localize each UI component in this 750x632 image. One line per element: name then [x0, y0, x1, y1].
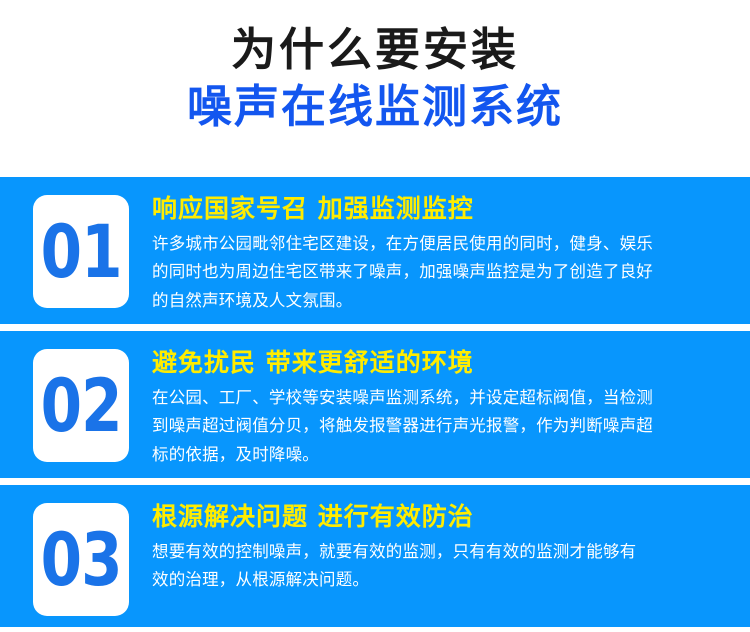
section-text-line: 许多城市公园毗邻住宅区建设，在方便居民使用的同时，健身、娱乐 [152, 230, 724, 258]
section-heading-01: 响应国家号召 加强监测监控 [152, 194, 724, 224]
section-row-02: 02 避免扰民 带来更舒适的环境 在公园、工厂、学校等安装噪声监测系统，并设定超… [0, 331, 750, 478]
section-number-01: 01 [41, 215, 122, 288]
section-text-03: 想要有效的控制噪声，就要有效的监测，只有有效的监测才能够有 效的治理，从根源解决… [152, 538, 724, 595]
section-text-line: 的自然声环境及人文氛围。 [152, 287, 724, 315]
section-number-badge-03: 03 [33, 503, 129, 616]
infographic-poster: 为什么要安装 噪声在线监测系统 01 响应国家号召 加强监测监控 许多城市公园毗… [0, 0, 750, 632]
section-text-line: 的同时也为周边住宅区带来了噪声，加强噪声监控是为了创造了良好 [152, 258, 724, 286]
section-number-02: 02 [41, 369, 122, 442]
poster-header: 为什么要安装 噪声在线监测系统 [0, 0, 750, 135]
section-row-01: 01 响应国家号召 加强监测监控 许多城市公园毗邻住宅区建设，在方便居民使用的同… [0, 177, 750, 324]
section-row-03: 03 根源解决问题 进行有效防治 想要有效的控制噪声，就要有效的监测，只有有效的… [0, 485, 750, 627]
section-text-02: 在公园、工厂、学校等安装噪声监测系统，并设定超标阀值，当检测 到噪声超过阀值分贝… [152, 384, 724, 469]
section-body-03: 根源解决问题 进行有效防治 想要有效的控制噪声，就要有效的监测，只有有效的监测才… [129, 501, 724, 595]
page-title-line1: 为什么要安装 [0, 22, 750, 78]
section-text-line: 在公园、工厂、学校等安装噪声监测系统，并设定超标阀值，当检测 [152, 384, 724, 412]
section-heading-02: 避免扰民 带来更舒适的环境 [152, 348, 724, 378]
section-heading-03: 根源解决问题 进行有效防治 [152, 502, 724, 532]
page-title-line2: 噪声在线监测系统 [0, 80, 750, 135]
section-text-01: 许多城市公园毗邻住宅区建设，在方便居民使用的同时，健身、娱乐 的同时也为周边住宅… [152, 230, 724, 315]
section-body-02: 避免扰民 带来更舒适的环境 在公园、工厂、学校等安装噪声监测系统，并设定超标阀值… [129, 347, 724, 469]
section-text-line: 想要有效的控制噪声，就要有效的监测，只有有效的监测才能够有 [152, 538, 724, 566]
section-list: 01 响应国家号召 加强监测监控 许多城市公园毗邻住宅区建设，在方便居民使用的同… [0, 177, 750, 627]
section-text-line: 效的治理，从根源解决问题。 [152, 566, 724, 594]
section-body-01: 响应国家号召 加强监测监控 许多城市公园毗邻住宅区建设，在方便居民使用的同时，健… [129, 193, 724, 315]
section-number-03: 03 [41, 523, 122, 596]
section-text-line: 到噪声超过阀值分贝，将触发报警器进行声光报警，作为判断噪声超 [152, 412, 724, 440]
section-text-line: 标的依据，及时降噪。 [152, 441, 724, 469]
section-number-badge-01: 01 [33, 195, 129, 308]
section-number-badge-02: 02 [33, 349, 129, 462]
